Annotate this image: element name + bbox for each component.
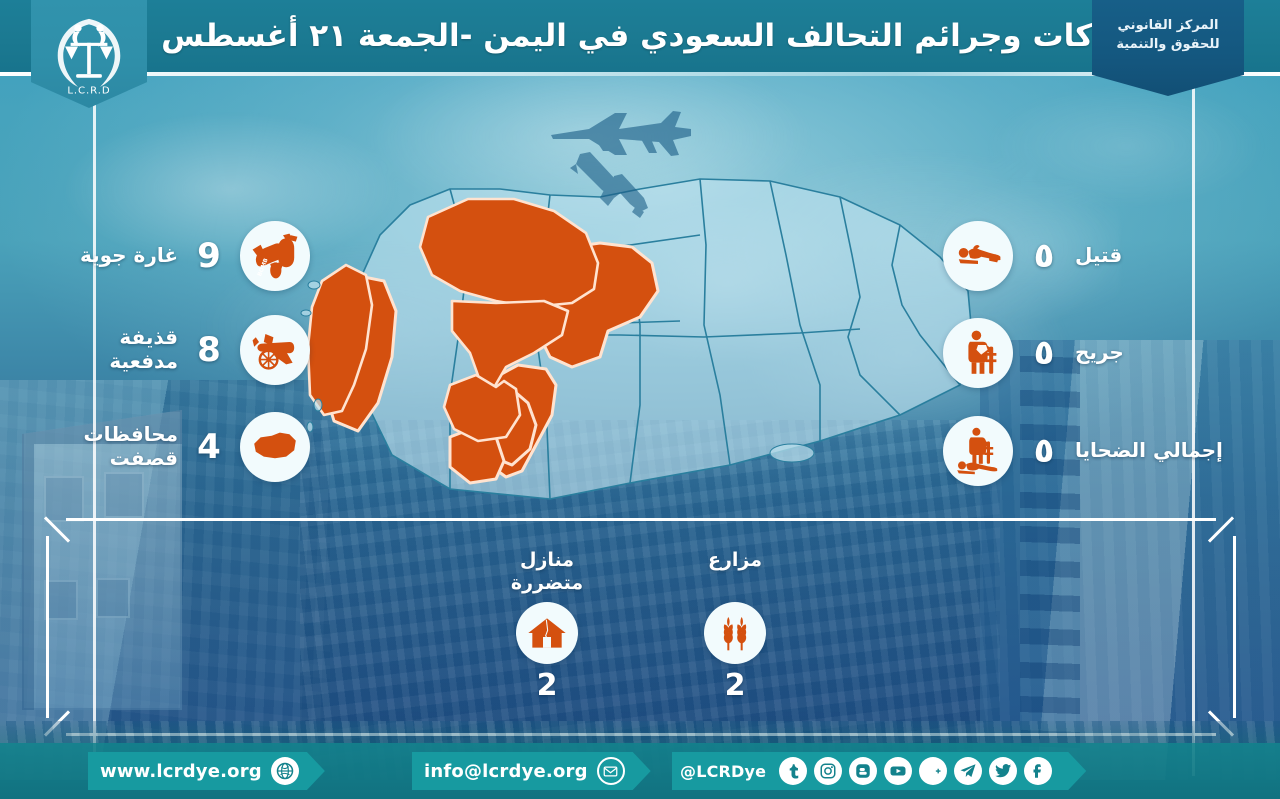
falling-bombs-icon <box>570 150 660 220</box>
stat-label: غارة جوية <box>58 244 178 268</box>
tumblr-icon[interactable] <box>779 757 807 785</box>
yemen-map-icon <box>240 412 310 482</box>
bottom-stats-panel: مزارع <box>46 518 1236 736</box>
svg-text:G: G <box>924 765 925 779</box>
stat-label: إجمالي الضحايا <box>1075 439 1235 463</box>
header-divider <box>0 72 1280 76</box>
youtube-icon[interactable] <box>884 757 912 785</box>
stat-value: ٥ <box>1013 239 1075 273</box>
panel-item-label: مزارع <box>708 549 762 595</box>
website-chip[interactable]: www.lcrdye.org <box>88 752 325 790</box>
footer-texture-band <box>0 721 1280 743</box>
wheat-icon <box>704 602 766 664</box>
stat-value: 8 <box>178 333 240 367</box>
svg-text:L.C.R.D: L.C.R.D <box>67 85 110 96</box>
brand-banner: المركز القانوني للحقوق والتنمية <box>1092 0 1244 96</box>
stat-value: 9 <box>178 239 240 273</box>
social-links: G <box>672 752 1086 790</box>
brand-line-1: المركز القانوني <box>1118 18 1219 33</box>
stat-label: جريح <box>1075 341 1235 365</box>
globe-icon <box>271 757 299 785</box>
facebook-icon[interactable] <box>1024 757 1052 785</box>
stat-value: ٥ <box>1013 434 1075 468</box>
website-url: www.lcrdye.org <box>100 761 262 782</box>
stat-row-total-victims[interactable]: ٥ إجمالي الضحايا <box>943 416 1235 486</box>
stat-value: ٥ <box>1013 336 1075 370</box>
email-chip[interactable]: info@lcrdye.org <box>412 752 651 790</box>
stat-row-airstrikes[interactable]: BOMB 9 غارة جوية <box>58 221 310 291</box>
email-address: info@lcrdye.org <box>424 761 588 782</box>
stat-label: قذيفة مدفعية <box>58 326 178 373</box>
infographic-canvas: L.C.R.D انتهاكات وجرائم التحالف السعودي … <box>0 0 1280 799</box>
stat-row-killed[interactable]: ٥ قتيل <box>943 221 1235 291</box>
instagram-icon[interactable] <box>814 757 842 785</box>
stat-value: 4 <box>178 430 240 464</box>
bomb-icon: BOMB <box>240 221 310 291</box>
panel-item-label: منازل متضررة <box>511 549 583 595</box>
panel-item-damaged-houses[interactable]: منازل متضررة 2 <box>482 549 612 701</box>
panel-item-farms[interactable]: مزارع <box>670 549 800 701</box>
stat-row-governorates[interactable]: 4 محافظات قصفت <box>58 412 310 482</box>
panel-item-value: 2 <box>725 671 746 701</box>
envelope-icon <box>597 757 625 785</box>
scales-of-justice-icon: L.C.R.D <box>43 6 135 98</box>
total-victims-icon <box>943 416 1013 486</box>
house-icon <box>516 602 578 664</box>
social-handle: @LCRDye <box>680 762 766 781</box>
brand-line-2: للحقوق والتنمية <box>1116 37 1219 52</box>
stat-label: قتيل <box>1075 244 1235 268</box>
panel-item-value: 2 <box>537 671 558 701</box>
casualty-lying-icon <box>943 221 1013 291</box>
stat-label: محافظات قصفت <box>58 423 178 470</box>
googleplus-icon[interactable]: G <box>919 757 947 785</box>
lcrd-logo: L.C.R.D <box>31 0 147 108</box>
footer-bar: www.lcrdye.org info@lcrdye.org <box>0 743 1280 799</box>
cannon-icon <box>240 315 310 385</box>
injured-person-icon <box>943 318 1013 388</box>
telegram-icon[interactable] <box>954 757 982 785</box>
page-title: انتهاكات وجرائم التحالف السعودي في اليمن… <box>150 0 1085 72</box>
stat-row-injured[interactable]: ٥ جريح <box>943 318 1235 388</box>
blogger-icon[interactable] <box>849 757 877 785</box>
twitter-icon[interactable] <box>989 757 1017 785</box>
stat-row-artillery[interactable]: 8 قذيفة مدفعية <box>58 315 310 385</box>
